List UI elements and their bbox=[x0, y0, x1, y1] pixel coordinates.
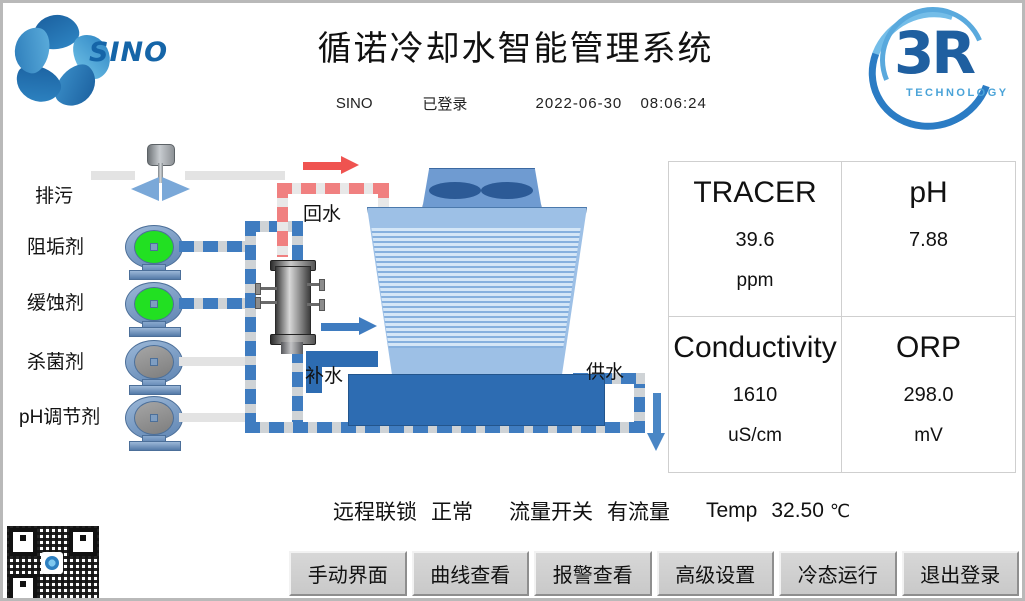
label-scale-inhibitor: 阻垢剂 bbox=[27, 232, 84, 259]
flow-switch-label: 流量开关 bbox=[509, 496, 593, 526]
trend-view-button[interactable]: 曲线查看 bbox=[412, 551, 530, 596]
page-title: 循诺冷却水智能管理系统 bbox=[3, 21, 1025, 70]
return-pipe-left bbox=[277, 183, 288, 257]
cold-run-button[interactable]: 冷态运行 bbox=[779, 551, 897, 596]
temperature-value: 32.50 bbox=[771, 499, 824, 523]
qr-finder-icon bbox=[69, 528, 97, 556]
header-info-bar: SINO 已登录 2022-06-30 08:06:24 bbox=[3, 93, 1025, 114]
filter-nozzle-cap-icon bbox=[319, 299, 325, 311]
pump-hub-icon bbox=[150, 243, 158, 251]
filter-nozzle-cap-icon bbox=[319, 279, 325, 291]
valve-body-left-icon bbox=[131, 177, 159, 201]
logout-button[interactable]: 退出登录 bbox=[902, 551, 1020, 596]
metric-unit: ppm bbox=[737, 270, 774, 292]
blowdown-valve-icon[interactable] bbox=[129, 144, 191, 200]
pump-biocide[interactable] bbox=[125, 340, 181, 390]
system-time: 08:06:24 bbox=[640, 95, 706, 112]
pump-hub-icon bbox=[150, 358, 158, 366]
pump-base-icon bbox=[129, 385, 181, 395]
filter-nozzle-cap-icon bbox=[255, 283, 261, 295]
metric-name: ORP bbox=[896, 331, 961, 366]
pump-base-icon bbox=[129, 327, 181, 337]
remote-interlock-value: 正常 bbox=[431, 496, 473, 526]
metric-value: 7.88 bbox=[909, 229, 948, 252]
supply-flow-arrow bbox=[651, 393, 661, 451]
dosing-line-ph-adjuster bbox=[179, 413, 251, 422]
label-blowdown: 排污 bbox=[35, 181, 73, 208]
metric-tracer: TRACER 39.6 ppm bbox=[669, 162, 842, 317]
metric-name: pH bbox=[909, 176, 947, 211]
pump-hub-icon bbox=[150, 414, 158, 422]
pump-hub-icon bbox=[150, 300, 158, 308]
sidestream-pipe-outlet bbox=[292, 348, 303, 433]
pump-scale-inhibitor[interactable] bbox=[125, 225, 181, 275]
metric-orp: ORP 298.0 mV bbox=[842, 317, 1015, 472]
label-biocide: 杀菌剂 bbox=[27, 347, 84, 374]
metric-name: Conductivity bbox=[673, 331, 836, 366]
qr-finder-icon bbox=[9, 574, 37, 601]
qr-code bbox=[7, 526, 99, 600]
pump-corrosion-inhibitor[interactable] bbox=[125, 282, 181, 332]
advanced-settings-button[interactable]: 高级设置 bbox=[657, 551, 775, 596]
dosing-line-scale-inhibitor bbox=[179, 241, 251, 252]
cooling-tower bbox=[348, 168, 603, 423]
metric-unit: mV bbox=[914, 425, 943, 447]
temperature-unit: ℃ bbox=[830, 501, 850, 522]
label-supply-water: 供水 bbox=[586, 357, 624, 384]
metric-name: TRACER bbox=[693, 176, 816, 211]
tower-basin bbox=[348, 374, 605, 426]
action-button-bar: 手动界面 曲线查看 报警查看 高级设置 冷态运行 退出登录 bbox=[289, 551, 1019, 596]
status-bar: 远程联锁 正常 流量开关 有流量 Temp 32.50 ℃ bbox=[333, 496, 1023, 526]
label-corrosion-inhibitor: 缓蚀剂 bbox=[27, 288, 84, 315]
metric-value: 1610 bbox=[733, 384, 778, 407]
metric-conductivity: Conductivity 1610 uS/cm bbox=[669, 317, 842, 472]
pump-ph-adjuster[interactable] bbox=[125, 396, 181, 446]
sidestream-pipe-left bbox=[245, 221, 256, 433]
metric-value: 39.6 bbox=[736, 229, 775, 252]
temperature-label: Temp bbox=[706, 499, 757, 523]
filter-shell-icon bbox=[275, 266, 311, 340]
metric-value: 298.0 bbox=[903, 384, 953, 407]
flow-switch-value: 有流量 bbox=[607, 496, 670, 526]
measurements-panel: TRACER 39.6 ppm pH 7.88 Conductivity 161… bbox=[668, 161, 1016, 473]
tower-fill-louvers bbox=[367, 228, 585, 348]
tower-fan-hood bbox=[422, 168, 542, 210]
dosing-line-corrosion-inhibitor bbox=[179, 298, 251, 309]
pump-base-icon bbox=[129, 441, 181, 451]
login-status: 已登录 bbox=[422, 93, 467, 114]
blowdown-pipe-right bbox=[185, 171, 285, 180]
qr-center-logo bbox=[41, 552, 63, 574]
dosing-line-biocide bbox=[179, 357, 251, 366]
side-stream-filter-icon[interactable] bbox=[267, 256, 319, 356]
current-user: SINO bbox=[324, 95, 384, 112]
qr-finder-icon bbox=[9, 528, 37, 556]
label-return-water: 回水 bbox=[303, 199, 341, 226]
remote-interlock-label: 远程联锁 bbox=[333, 496, 417, 526]
pump-base-icon bbox=[129, 270, 181, 280]
label-ph-adjuster: pH调节剂 bbox=[19, 402, 100, 429]
alarm-view-button[interactable]: 报警查看 bbox=[534, 551, 652, 596]
filter-foot-icon bbox=[281, 342, 303, 354]
blowdown-pipe-left bbox=[91, 171, 135, 180]
metric-ph: pH 7.88 bbox=[842, 162, 1015, 317]
manual-interface-button[interactable]: 手动界面 bbox=[289, 551, 407, 596]
fan-blade-icon bbox=[429, 182, 481, 199]
fan-blade-icon bbox=[481, 182, 533, 199]
valve-body-right-icon bbox=[162, 177, 190, 201]
filter-nozzle-cap-icon bbox=[255, 297, 261, 309]
label-makeup-water: 补水 bbox=[305, 361, 343, 388]
metric-unit: uS/cm bbox=[728, 425, 782, 447]
system-date: 2022-06-30 bbox=[536, 95, 623, 112]
hmi-screen: SINO 3R TECHNOLOGY 循诺冷却水智能管理系统 SINO 已登录 … bbox=[0, 0, 1025, 601]
